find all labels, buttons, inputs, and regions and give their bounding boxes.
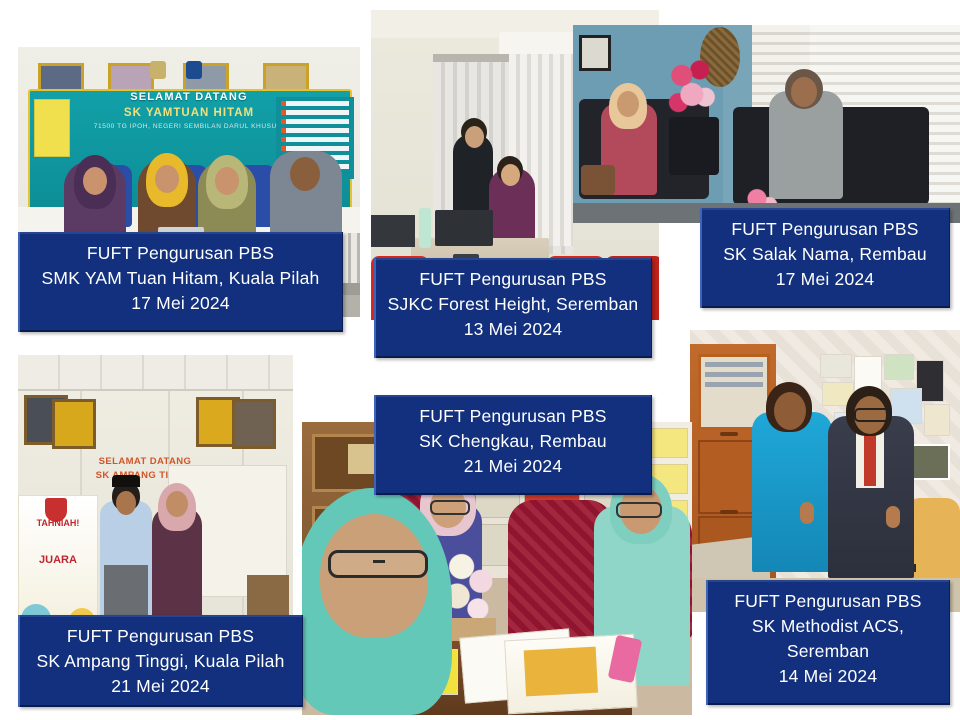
banner-tahniah-text: TAHNIAH! [23, 518, 93, 528]
water-bottle-icon [419, 208, 431, 248]
thumbs-up-icon [800, 502, 814, 524]
photo-collage: SELAMAT DATANG SK YAMTUAN HITAM 71500 TG… [0, 0, 960, 720]
caption-line-2: SK Methodist ACS, [712, 614, 944, 639]
thumbs-up-icon [886, 506, 900, 528]
caption-line-4: 14 Mei 2024 [712, 664, 944, 689]
caption-sk-chengkau[interactable]: FUFT Pengurusan PBS SK Chengkau, Rembau … [374, 395, 652, 495]
caption-line-3: 21 Mei 2024 [24, 674, 297, 699]
carved-crest-icon [348, 444, 374, 474]
caption-line-2: SJKC Forest Height, Seremban [380, 292, 646, 317]
caption-line-1: FUFT Pengurusan PBS [24, 241, 337, 266]
person-face [617, 91, 639, 117]
person-face [791, 77, 817, 107]
cabinet-handle-icon [720, 510, 738, 514]
caption-line-1: FUFT Pengurusan PBS [24, 624, 297, 649]
cabinet-handle-icon [720, 432, 738, 436]
caption-line-3: Seremban [712, 639, 944, 664]
caption-line-3: 17 Mei 2024 [706, 267, 944, 292]
person-face [290, 157, 320, 191]
caption-sjkc-forest-height[interactable]: FUFT Pengurusan PBS SJKC Forest Height, … [374, 258, 652, 358]
person-face [774, 392, 806, 430]
caption-sk-ampang-tinggi[interactable]: FUFT Pengurusan PBS SK Ampang Tinggi, Ku… [18, 615, 303, 707]
caption-line-3: 21 Mei 2024 [380, 454, 646, 479]
flower-arrangement [665, 55, 721, 123]
songkok-icon [112, 475, 140, 487]
person-face [465, 126, 484, 148]
person-figure [752, 412, 832, 572]
caption-line-2: SK Chengkau, Rembau [380, 429, 646, 454]
ceiling [18, 355, 293, 391]
eyeglasses-icon [328, 550, 428, 578]
caption-line-2: SK Salak Nama, Rembau [706, 242, 944, 267]
eyeglasses-icon [616, 502, 662, 518]
person-face [83, 167, 107, 195]
banner-juara-text: JUARA [23, 554, 93, 566]
handbag-icon [581, 165, 615, 195]
national-crest-icon [150, 61, 166, 79]
person-face [116, 491, 136, 515]
caption-line-1: FUFT Pengurusan PBS [706, 217, 944, 242]
laptop-icon [435, 210, 493, 246]
eyeglasses-icon [854, 408, 890, 422]
caption-line-2: SK Ampang Tinggi, Kuala Pilah [24, 649, 297, 674]
caption-line-1: FUFT Pengurusan PBS [380, 267, 646, 292]
side-table [669, 117, 719, 175]
laptop-icon [371, 215, 415, 247]
caption-line-2: SMK YAM Tuan Hitam, Kuala Pilah [24, 266, 337, 291]
caption-line-1: FUFT Pengurusan PBS [712, 589, 944, 614]
caption-smk-yam-tuan-hitam[interactable]: FUFT Pengurusan PBS SMK YAM Tuan Hitam, … [18, 232, 343, 332]
school-crest-icon [186, 61, 202, 79]
framed-portrait-icon [232, 399, 276, 449]
wall-frame-icon [579, 35, 611, 71]
person-face [215, 167, 239, 195]
necktie [864, 430, 876, 486]
person-face [166, 491, 188, 517]
person-face [501, 164, 520, 186]
caption-sk-methodist-acs[interactable]: FUFT Pengurusan PBS SK Methodist ACS, Se… [706, 580, 950, 705]
caption-line-3: 13 Mei 2024 [380, 317, 646, 342]
caption-line-3: 17 Mei 2024 [24, 291, 337, 316]
caption-line-1: FUFT Pengurusan PBS [380, 404, 646, 429]
person-face [155, 165, 179, 193]
photo-sk-methodist-acs[interactable] [690, 330, 960, 612]
caption-sk-salak-nama[interactable]: FUFT Pengurusan PBS SK Salak Nama, Remba… [700, 208, 950, 308]
photo-sk-salak-nama[interactable] [573, 25, 960, 223]
eyeglasses-icon [430, 500, 470, 515]
framed-portrait-icon [52, 399, 96, 449]
yellow-poster [34, 99, 70, 157]
